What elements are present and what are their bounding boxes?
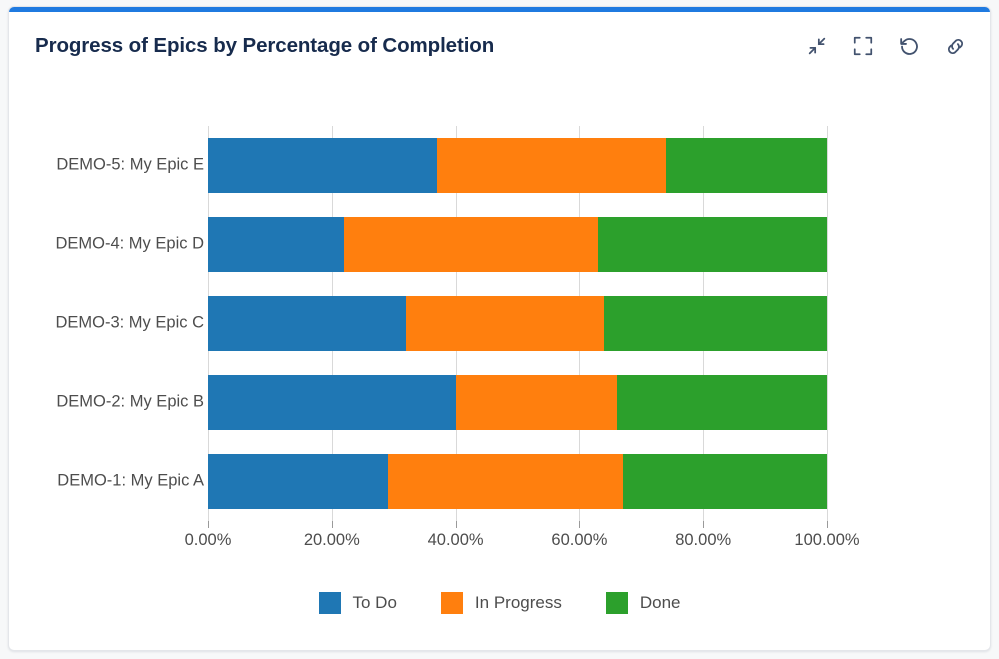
legend-item-in-progress[interactable]: In Progress xyxy=(441,592,562,614)
bar-segment[interactable] xyxy=(437,138,666,193)
screen: Progress of Epics by Percentage of Compl… xyxy=(0,0,999,659)
bar-segment[interactable] xyxy=(208,296,406,351)
collapse-icon[interactable] xyxy=(804,33,830,59)
link-icon[interactable] xyxy=(942,33,968,59)
bar-segment[interactable] xyxy=(598,217,827,272)
legend-item-to-do[interactable]: To Do xyxy=(319,592,397,614)
bar-group: DEMO-3: My Epic C xyxy=(208,296,827,351)
x-axis-tick xyxy=(703,521,704,528)
legend-label: Done xyxy=(640,593,681,613)
legend-label: In Progress xyxy=(475,593,562,613)
x-axis-tick xyxy=(827,521,828,528)
x-axis-tick-label: 60.00% xyxy=(551,531,607,550)
y-axis-tick-label: DEMO-2: My Epic B xyxy=(56,393,208,412)
legend-item-done[interactable]: Done xyxy=(606,592,681,614)
refresh-icon[interactable] xyxy=(896,33,922,59)
x-axis-tick xyxy=(579,521,580,528)
page-title: Progress of Epics by Percentage of Compl… xyxy=(35,34,494,58)
gridline xyxy=(827,126,828,521)
chart-canvas: DEMO-5: My Epic EDEMO-4: My Epic DDEMO-3… xyxy=(9,80,990,650)
legend-swatch xyxy=(441,592,463,614)
legend-swatch xyxy=(319,592,341,614)
bar-segment[interactable] xyxy=(604,296,827,351)
bar-group: DEMO-2: My Epic B xyxy=(208,375,827,430)
bar-group: DEMO-5: My Epic E xyxy=(208,138,827,193)
bar-segment[interactable] xyxy=(208,138,437,193)
chart-legend: To DoIn ProgressDone xyxy=(9,592,990,614)
chart-card: Progress of Epics by Percentage of Compl… xyxy=(8,6,991,651)
x-axis-tick-label: 0.00% xyxy=(185,531,232,550)
fullscreen-icon[interactable] xyxy=(850,33,876,59)
x-axis-tick xyxy=(456,521,457,528)
bar-segment[interactable] xyxy=(456,375,617,430)
bar-segment[interactable] xyxy=(623,454,827,509)
bar-segment[interactable] xyxy=(344,217,598,272)
bar-segment[interactable] xyxy=(388,454,623,509)
header-actions xyxy=(804,33,968,59)
x-axis-tick xyxy=(208,521,209,528)
bar-group: DEMO-4: My Epic D xyxy=(208,217,827,272)
bar-segment[interactable] xyxy=(208,217,344,272)
x-axis-tick-label: 80.00% xyxy=(675,531,731,550)
y-axis-tick-label: DEMO-5: My Epic E xyxy=(56,156,208,175)
x-axis-tick-label: 40.00% xyxy=(428,531,484,550)
legend-swatch xyxy=(606,592,628,614)
card-header: Progress of Epics by Percentage of Compl… xyxy=(9,12,990,80)
bar-segment[interactable] xyxy=(406,296,604,351)
y-axis-tick-label: DEMO-3: My Epic C xyxy=(55,314,208,333)
x-axis-tick-label: 20.00% xyxy=(304,531,360,550)
plot-area: DEMO-5: My Epic EDEMO-4: My Epic DDEMO-3… xyxy=(208,126,827,521)
x-axis-tick-label: 100.00% xyxy=(794,531,859,550)
y-axis-tick-label: DEMO-4: My Epic D xyxy=(55,235,208,254)
x-axis-tick xyxy=(332,521,333,528)
bar-segment[interactable] xyxy=(617,375,827,430)
x-axis: 0.00%20.00%40.00%60.00%80.00%100.00% xyxy=(208,521,827,561)
bar-segment[interactable] xyxy=(208,375,456,430)
bar-segment[interactable] xyxy=(208,454,388,509)
bar-group: DEMO-1: My Epic A xyxy=(208,454,827,509)
legend-label: To Do xyxy=(353,593,397,613)
y-axis-tick-label: DEMO-1: My Epic A xyxy=(57,472,208,491)
bar-segment[interactable] xyxy=(666,138,827,193)
